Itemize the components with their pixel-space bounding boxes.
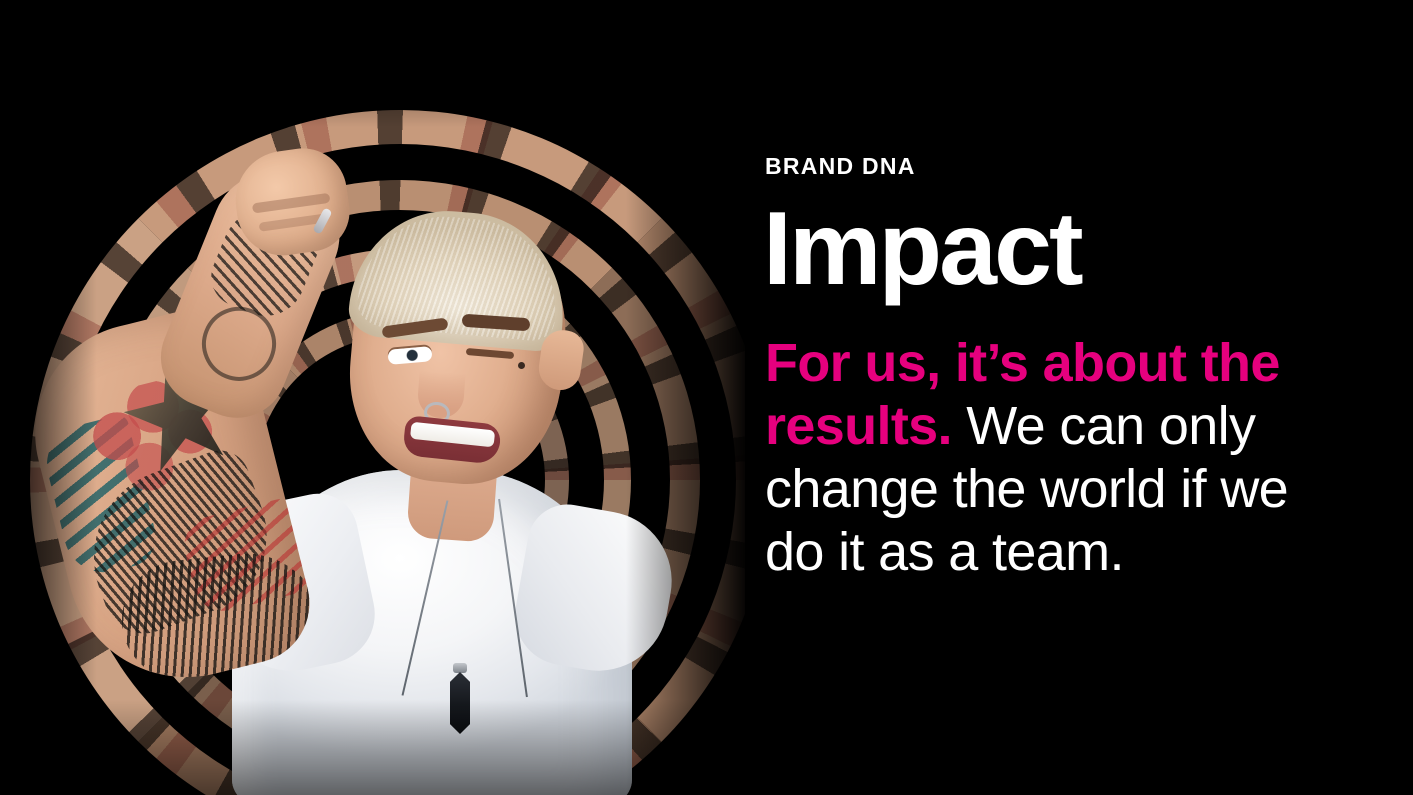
page-title: Impact xyxy=(763,196,1081,302)
teeth xyxy=(410,422,495,448)
shoulder-right xyxy=(507,498,683,682)
face-mole xyxy=(518,362,525,369)
tattoo-forearm-ring xyxy=(191,296,287,392)
tattoo-snake xyxy=(69,442,289,645)
hero-image xyxy=(0,0,745,795)
eyebrow-label: BRAND DNA xyxy=(765,155,916,178)
body-paragraph: For us, it’s about the results. We can o… xyxy=(765,332,1345,584)
portrait-subject xyxy=(0,0,745,795)
tattoo-wave xyxy=(38,413,162,580)
brand-slide: BRAND DNA Impact For us, it’s about the … xyxy=(0,0,1413,795)
pendant-cap xyxy=(453,663,467,673)
text-content: BRAND DNA Impact For us, it’s about the … xyxy=(765,0,1365,795)
crystal-pendant xyxy=(450,672,470,734)
blonde-cropped-hair xyxy=(347,203,572,353)
